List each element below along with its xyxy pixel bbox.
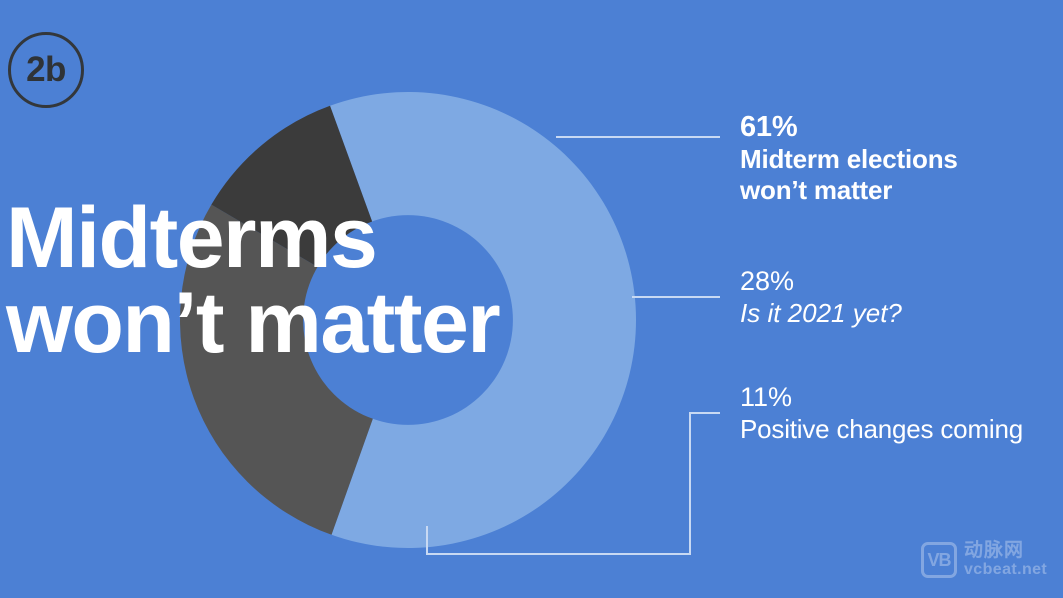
- watermark-chinese: 动脉网: [964, 541, 1047, 561]
- callout-61-description-line-1: Midterm elections: [740, 144, 1060, 174]
- leader-line-61: [556, 136, 720, 138]
- page-title: Midterms won’t matter: [6, 196, 686, 366]
- callout-11: 11% Positive changes coming: [740, 382, 1063, 444]
- watermark-text: 动脉网 vcbeat.net: [964, 541, 1047, 579]
- callout-11-description-line-1: Positive changes coming: [740, 414, 1063, 444]
- callout-61: 61% Midterm elections won’t matter: [740, 110, 1060, 205]
- callout-11-percent: 11%: [740, 382, 1063, 414]
- leader-line-11-down: [426, 526, 428, 555]
- infographic-slide: 2b Midterms won’t matter 61% Midterm ele…: [0, 0, 1063, 598]
- leader-line-28: [632, 296, 720, 298]
- slide-number-label: 2b: [26, 52, 66, 87]
- callout-28-percent: 28%: [740, 266, 1060, 298]
- watermark: VB 动脉网 vcbeat.net: [921, 541, 1047, 579]
- callout-61-description-line-2: won’t matter: [740, 175, 1060, 205]
- leader-line-11-to-label: [689, 412, 720, 414]
- vcbeat-logo-label: VB: [927, 551, 950, 569]
- page-title-line-1: Midterms: [6, 196, 686, 281]
- leader-line-11-up: [689, 412, 691, 555]
- slide-number-badge: 2b: [8, 32, 84, 108]
- page-title-line-2: won’t matter: [6, 281, 686, 366]
- watermark-url: vcbeat.net: [964, 561, 1047, 579]
- callout-28: 28% Is it 2021 yet?: [740, 266, 1060, 328]
- leader-line-11-across: [426, 553, 691, 555]
- callout-61-percent: 61%: [740, 110, 1060, 144]
- callout-28-description-line-1: Is it 2021 yet?: [740, 298, 1060, 328]
- vcbeat-logo-icon: VB: [921, 542, 957, 578]
